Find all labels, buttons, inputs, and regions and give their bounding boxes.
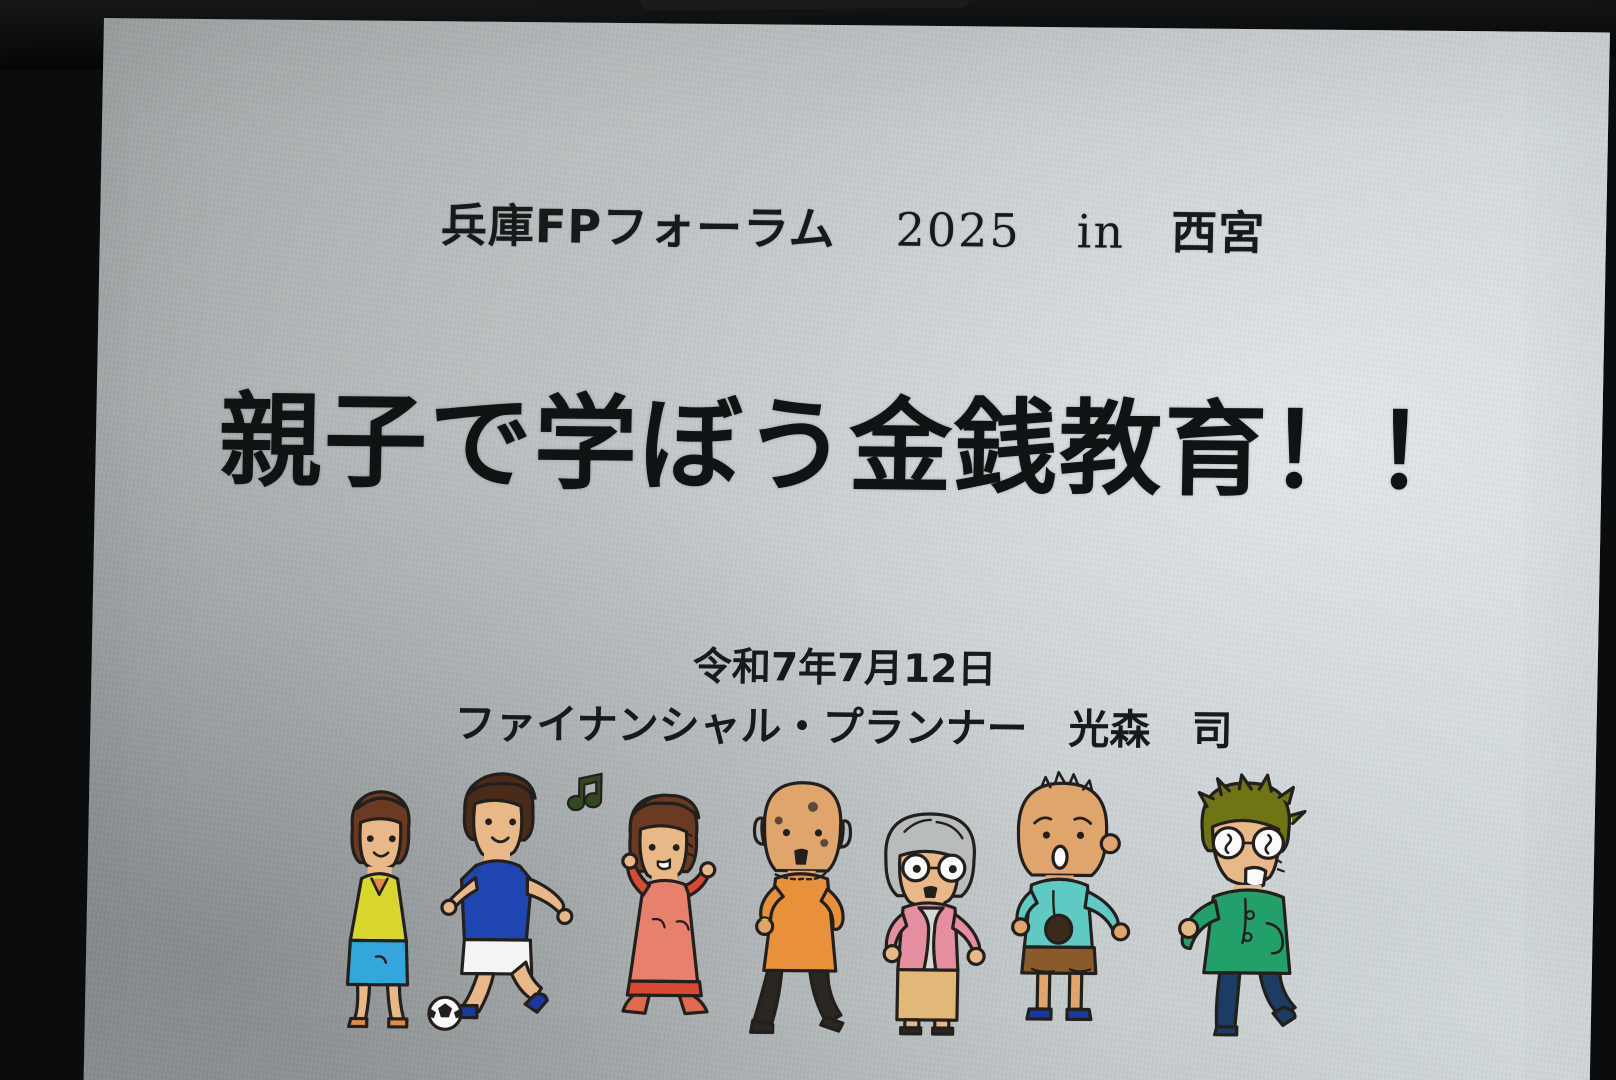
figure-older-man-orange: [729, 774, 874, 1033]
figure-bald-man-teal: [985, 773, 1150, 1036]
slide-main-title: 親子で学ぼう金銭教育！！: [95, 356, 1604, 519]
header-place: 西宮: [1171, 205, 1266, 260]
bezel-notch: [640, 0, 970, 10]
presentation-slide: 兵庫FPフォーラム 2025 in 西宮 親子で学ぼう金銭教育！！ 令和7年7月…: [83, 18, 1610, 1080]
people-illustration: [317, 756, 1332, 1038]
figure-man-green-shirt: [1147, 776, 1332, 1038]
header-year: 2025: [895, 203, 1021, 258]
header-in-word: in: [1076, 204, 1125, 258]
figure-grandmother: [857, 801, 1001, 1034]
figure-girl-pink-dress: [593, 781, 738, 1032]
projection-screen: 兵庫FPフォーラム 2025 in 西宮 親子で学ぼう金銭教育！！ 令和7年7月…: [83, 18, 1610, 1080]
figure-girl-yellow-vest: [317, 778, 442, 1029]
figure-boy-soccer: [425, 767, 610, 1031]
projector-photo: 兵庫FPフォーラム 2025 in 西宮 親子で学ぼう金銭教育！！ 令和7年7月…: [0, 0, 1616, 1080]
header-forum-name: 兵庫FPフォーラム: [440, 198, 836, 256]
slide-header: 兵庫FPフォーラム 2025 in 西宮: [100, 186, 1607, 266]
